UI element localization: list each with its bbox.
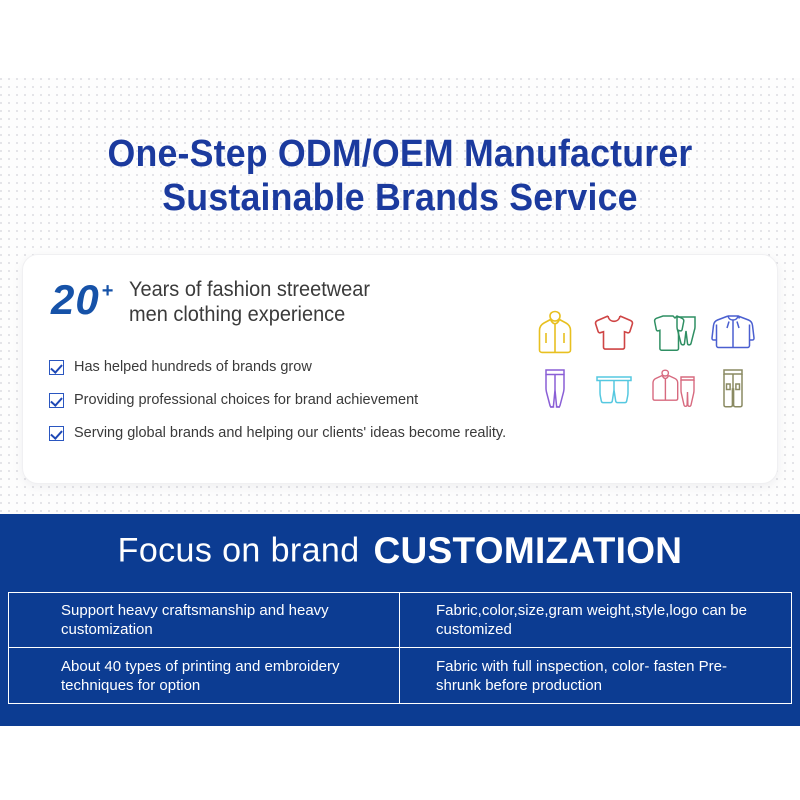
banner-title-light: Focus on brand (118, 532, 360, 570)
varsity-jacket-icon (709, 308, 757, 356)
tshirt-icon (590, 308, 638, 356)
feature-text: Fabric with full inspection, color- fast… (436, 657, 766, 695)
joggers-icon (531, 366, 579, 414)
experience-stat: 20 + Years of fashion streetwear men clo… (51, 279, 383, 327)
shorts-icon (590, 366, 638, 414)
sweatsuit-icon (650, 308, 698, 356)
cargo-pants-icon (709, 366, 757, 414)
list-item: Serving global brands and helping our cl… (49, 425, 549, 442)
garment-icon-grid (525, 303, 763, 419)
list-item-label: Has helped hundreds of brands grow (74, 359, 312, 376)
checkbox-checked-icon (49, 360, 64, 375)
checkbox-checked-icon (49, 393, 64, 408)
feature-cell: Fabric with full inspection, color- fast… (400, 648, 791, 703)
stat-description-line-2: men clothing experience (129, 303, 345, 326)
feature-text: Fabric,color,size,gram weight,style,logo… (436, 601, 766, 639)
experience-card: 20 + Years of fashion streetwear men clo… (22, 254, 778, 484)
list-item-label: Serving global brands and helping our cl… (74, 425, 506, 442)
feature-cell: Support heavy craftsmanship and heavy cu… (9, 593, 400, 648)
list-item-label: Providing professional choices for brand… (74, 392, 418, 409)
feature-grid: Support heavy craftsmanship and heavy cu… (8, 592, 792, 704)
stat-description: Years of fashion streetwear men clothing… (129, 277, 370, 327)
stat-description-line-1: Years of fashion streetwear (129, 278, 370, 301)
stat-number: 20 (51, 279, 100, 321)
stat-plus-sign: + (102, 281, 114, 301)
list-item: Providing professional choices for brand… (49, 392, 549, 409)
feature-text: Support heavy craftsmanship and heavy cu… (61, 601, 391, 639)
page-title: One-Step ODM/OEM Manufacturer Sustainabl… (24, 132, 776, 220)
checkbox-checked-icon (49, 426, 64, 441)
banner-title: Focus on brandCUSTOMIZATION (0, 530, 800, 572)
hoodie-icon (531, 308, 579, 356)
customization-banner: Focus on brandCUSTOMIZATION Support heav… (0, 514, 800, 726)
feature-cell: About 40 types of printing and embroider… (9, 648, 400, 703)
headline-line-2: Sustainable Brands Service (24, 176, 776, 220)
list-item: Has helped hundreds of brands grow (49, 359, 549, 376)
promo-banner-page: One-Step ODM/OEM Manufacturer Sustainabl… (0, 0, 800, 800)
headline-line-1: One-Step ODM/OEM Manufacturer (108, 133, 693, 175)
banner-title-bold: CUSTOMIZATION (374, 530, 683, 571)
feature-cell: Fabric,color,size,gram weight,style,logo… (400, 593, 791, 648)
tracksuit-icon (650, 366, 698, 414)
feature-text: About 40 types of printing and embroider… (61, 657, 391, 695)
benefits-list: Has helped hundreds of brands grow Provi… (49, 359, 549, 442)
